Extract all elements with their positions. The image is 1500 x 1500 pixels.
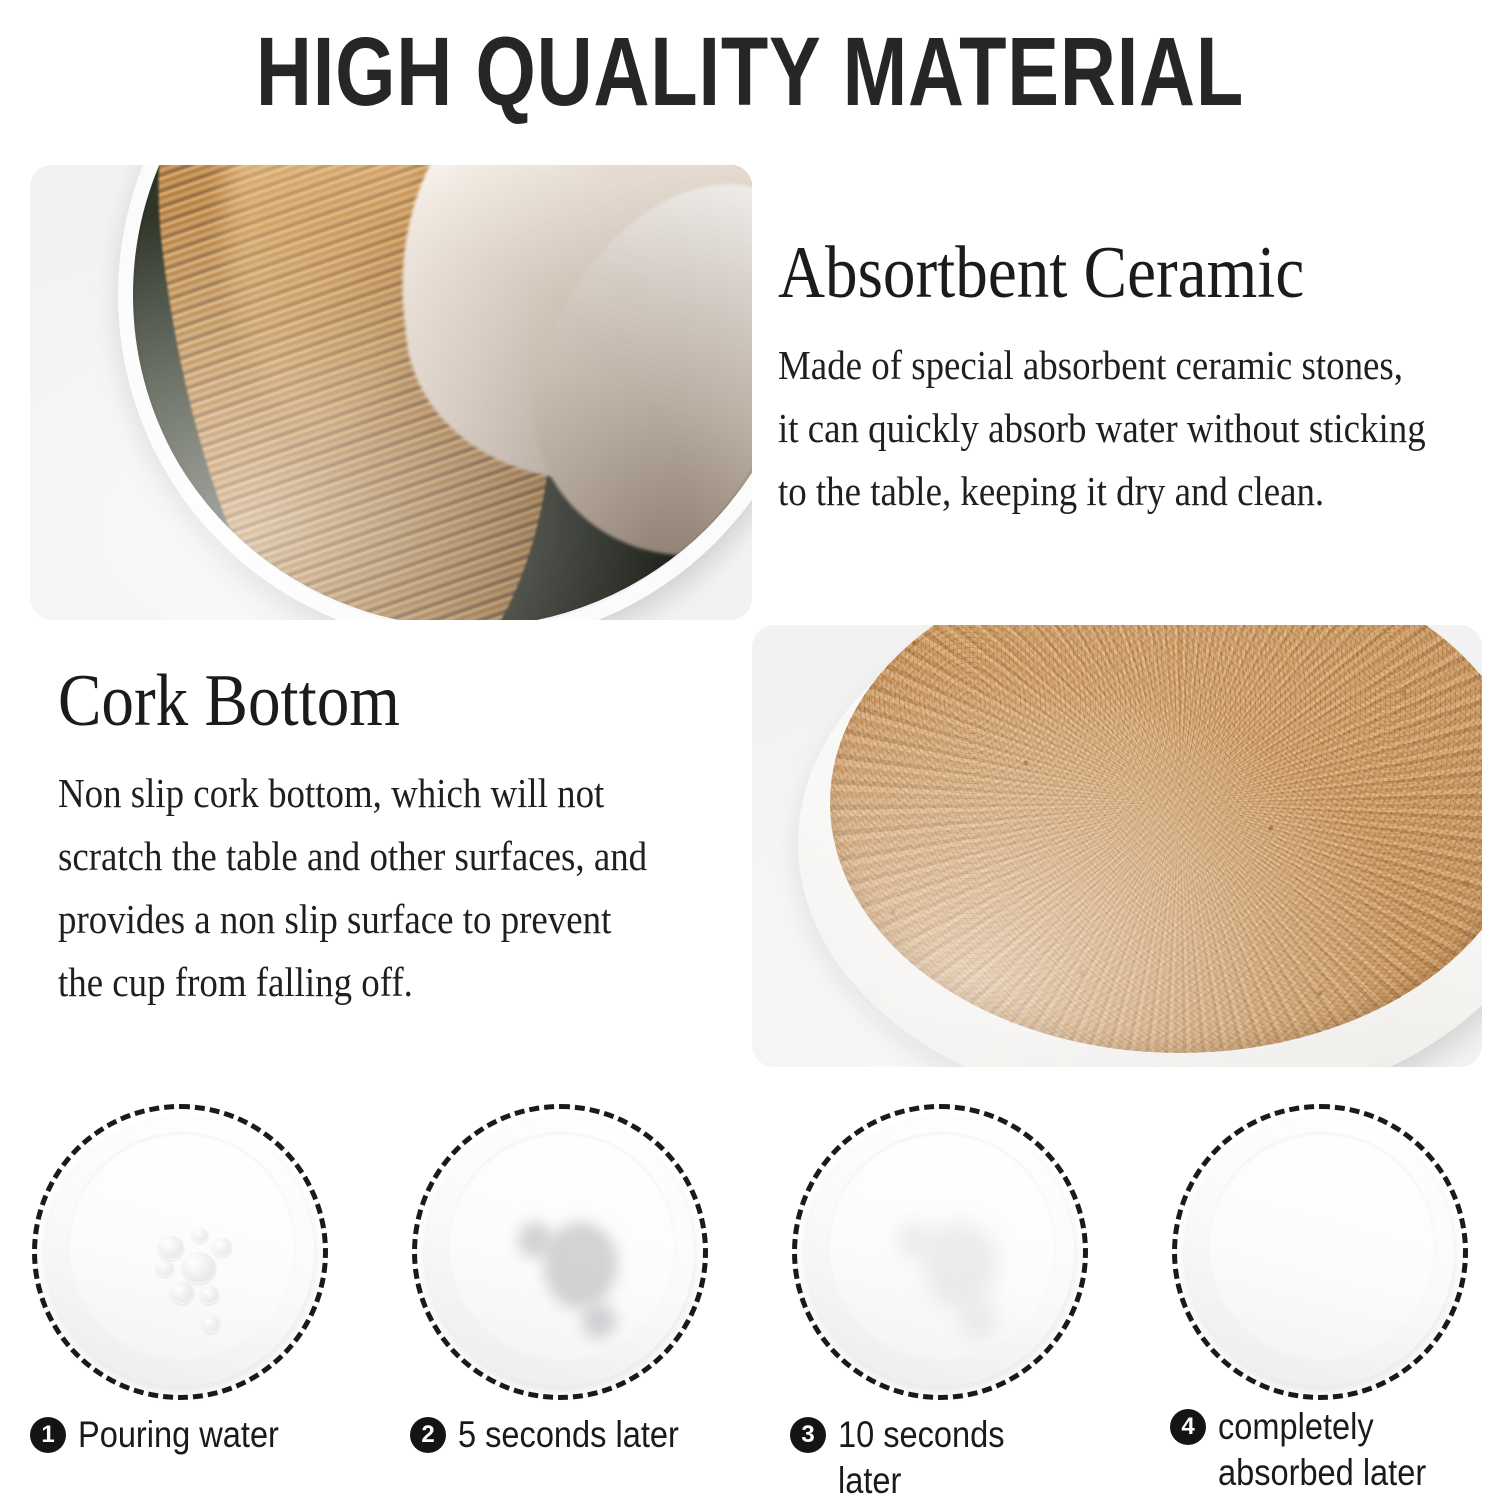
absorption-step: 3 10 seconds later xyxy=(778,1096,1108,1500)
water-droplet-icon xyxy=(192,1228,208,1243)
ceramic-photo-panel xyxy=(30,165,752,620)
ceramic-coaster-image xyxy=(118,165,752,620)
feature-text-line: provides a non slip surface to prevent xyxy=(58,888,647,951)
water-droplet-icon xyxy=(202,1316,220,1333)
coaster-top-view xyxy=(426,1118,694,1386)
water-droplet-icon xyxy=(158,1236,184,1260)
step-label: completely absorbed later xyxy=(1218,1404,1426,1496)
coaster-top-view xyxy=(1186,1118,1454,1386)
feature-text-line: scratch the table and other surfaces, an… xyxy=(58,825,647,888)
step-caption: 2 5 seconds later xyxy=(410,1412,728,1458)
step-caption: 4 completely absorbed later xyxy=(1170,1404,1488,1496)
coaster-inner-face xyxy=(1208,1132,1436,1360)
step-caption: 3 10 seconds later xyxy=(790,1412,1108,1500)
cork-texture-overlay xyxy=(830,625,1482,1053)
step-number-badge: 3 xyxy=(790,1417,826,1453)
feature-text-line: to the table, keeping it dry and clean. xyxy=(778,460,1426,523)
step-number-badge: 2 xyxy=(410,1417,446,1453)
absorption-step: 4 completely absorbed later xyxy=(1158,1096,1488,1500)
step-label: 5 seconds later xyxy=(458,1412,679,1458)
water-droplet-icon xyxy=(200,1286,219,1304)
coaster-printed-face xyxy=(130,165,752,620)
water-droplet-icon xyxy=(212,1238,232,1257)
feature-heading-cork-bottom: Cork Bottom xyxy=(58,662,400,740)
artwork-shading xyxy=(130,165,752,620)
feature-text-line: the cup from falling off. xyxy=(58,951,647,1014)
coaster-top-view xyxy=(806,1118,1074,1386)
cork-surface-image xyxy=(830,625,1482,1053)
feature-heading-absorbent-ceramic: Absortbent Ceramic xyxy=(778,234,1304,312)
page-title: HIGH QUALITY MATERIAL xyxy=(150,22,1350,122)
infographic-page: HIGH QUALITY MATERIAL Absortbent Ceramic… xyxy=(0,0,1500,1500)
absorption-steps: 1 Pouring water 2 5 seconds later xyxy=(0,1096,1500,1500)
water-droplet-icon xyxy=(170,1282,194,1304)
feature-text-absorbent-ceramic: Made of special absorbent ceramic stones… xyxy=(778,334,1498,523)
water-droplet-icon xyxy=(156,1260,174,1277)
step-label: 10 seconds later xyxy=(838,1412,1076,1500)
step-caption: 1 Pouring water xyxy=(30,1412,348,1458)
feature-text-line: Made of special absorbent ceramic stones… xyxy=(778,334,1426,397)
absorption-step: 1 Pouring water xyxy=(18,1096,348,1500)
step-number-badge: 1 xyxy=(30,1417,66,1453)
feature-text-cork-bottom: Non slip cork bottom, which will not scr… xyxy=(58,762,713,1014)
water-droplet-icon xyxy=(182,1252,216,1284)
feature-text-line: Non slip cork bottom, which will not xyxy=(58,762,647,825)
step-number-badge: 4 xyxy=(1170,1409,1206,1445)
absorption-step: 2 5 seconds later xyxy=(398,1096,728,1500)
cork-photo-panel xyxy=(752,625,1482,1067)
feature-text-line: it can quickly absorb water without stic… xyxy=(778,397,1426,460)
step-label: Pouring water xyxy=(78,1412,279,1458)
coaster-top-view xyxy=(46,1118,314,1386)
